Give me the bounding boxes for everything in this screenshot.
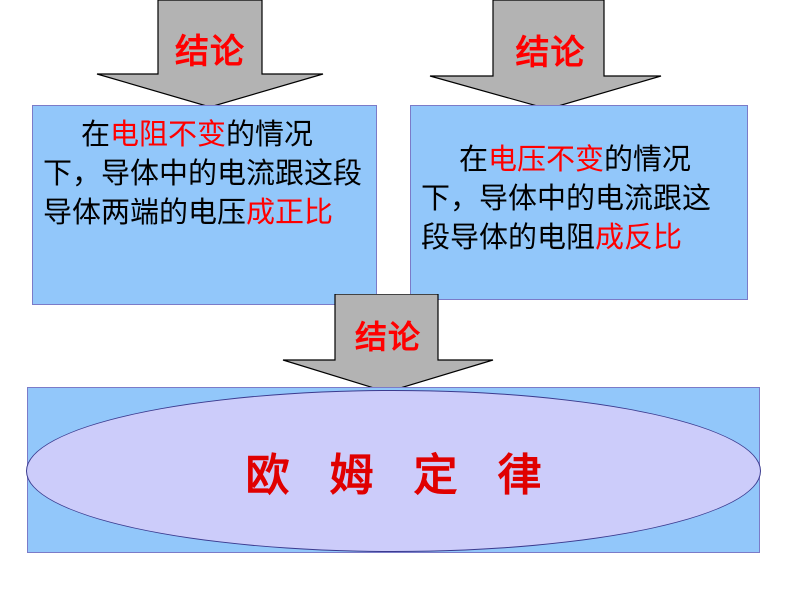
arrow-right-shape [429,0,662,110]
result-box: 欧姆定律 [27,387,760,553]
statement-left-text: 在电阻不变的情况下，导体中的电流跟这段导体两端的电压成正比 [43,115,368,232]
statement-box-right: 在电压不变的情况下，导体中的电流跟这段导体的电阻成反比 [410,105,748,300]
slide-canvas: 结论 结论 在电阻不变的情况下，导体中的电流跟这段导体两端的电压成正比 在电压不… [0,0,800,600]
arrow-center-shape [282,294,494,393]
statement-left-seg-0: 在 [81,117,110,151]
arrow-left: 结论 [96,0,324,108]
result-title: 欧姆定律 [206,439,582,503]
arrow-left-shape [96,0,324,108]
arrow-center: 结论 [282,294,494,393]
arrow-right: 结论 [429,0,662,110]
statement-left-seg-3: 成正比 [246,195,333,229]
statement-right-text: 在电压不变的情况下，导体中的电流跟这段导体的电阻成反比 [421,140,739,257]
statement-right-seg-3: 成反比 [595,220,682,254]
statement-right-seg-0: 在 [459,142,488,176]
result-ellipse: 欧姆定律 [26,390,761,552]
statement-right-seg-1: 电压不变 [488,142,604,176]
statement-box-left: 在电阻不变的情况下，导体中的电流跟这段导体两端的电压成正比 [32,105,377,305]
statement-left-seg-1: 电阻不变 [110,117,226,151]
